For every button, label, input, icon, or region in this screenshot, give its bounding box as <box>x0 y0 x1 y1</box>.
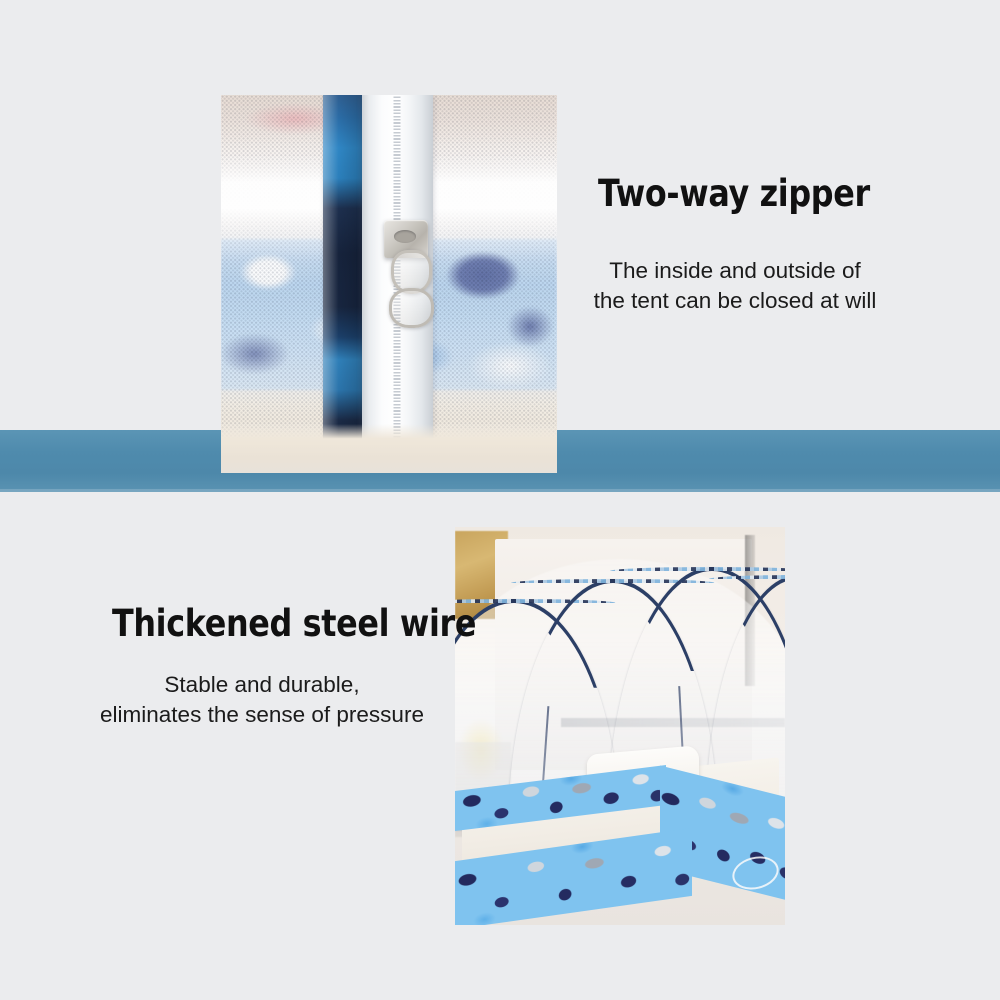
zipper-pull-tab-lower <box>389 288 434 328</box>
zipper-description: The inside and outside of the tent can b… <box>555 256 915 316</box>
zipper-bottom-fabric-band <box>221 424 557 473</box>
steel-wire-description: Stable and durable, eliminates the sense… <box>62 670 462 730</box>
zipper-heading: Two-way zipper <box>598 175 870 214</box>
tent-photo <box>455 527 785 925</box>
zipper-photo <box>221 95 557 473</box>
steel-wire-heading: Thickened steel wire <box>112 605 476 644</box>
zipper-camo-pole-strip <box>323 95 363 473</box>
product-feature-page: Two-way zipper The inside and outside of… <box>0 0 1000 1000</box>
